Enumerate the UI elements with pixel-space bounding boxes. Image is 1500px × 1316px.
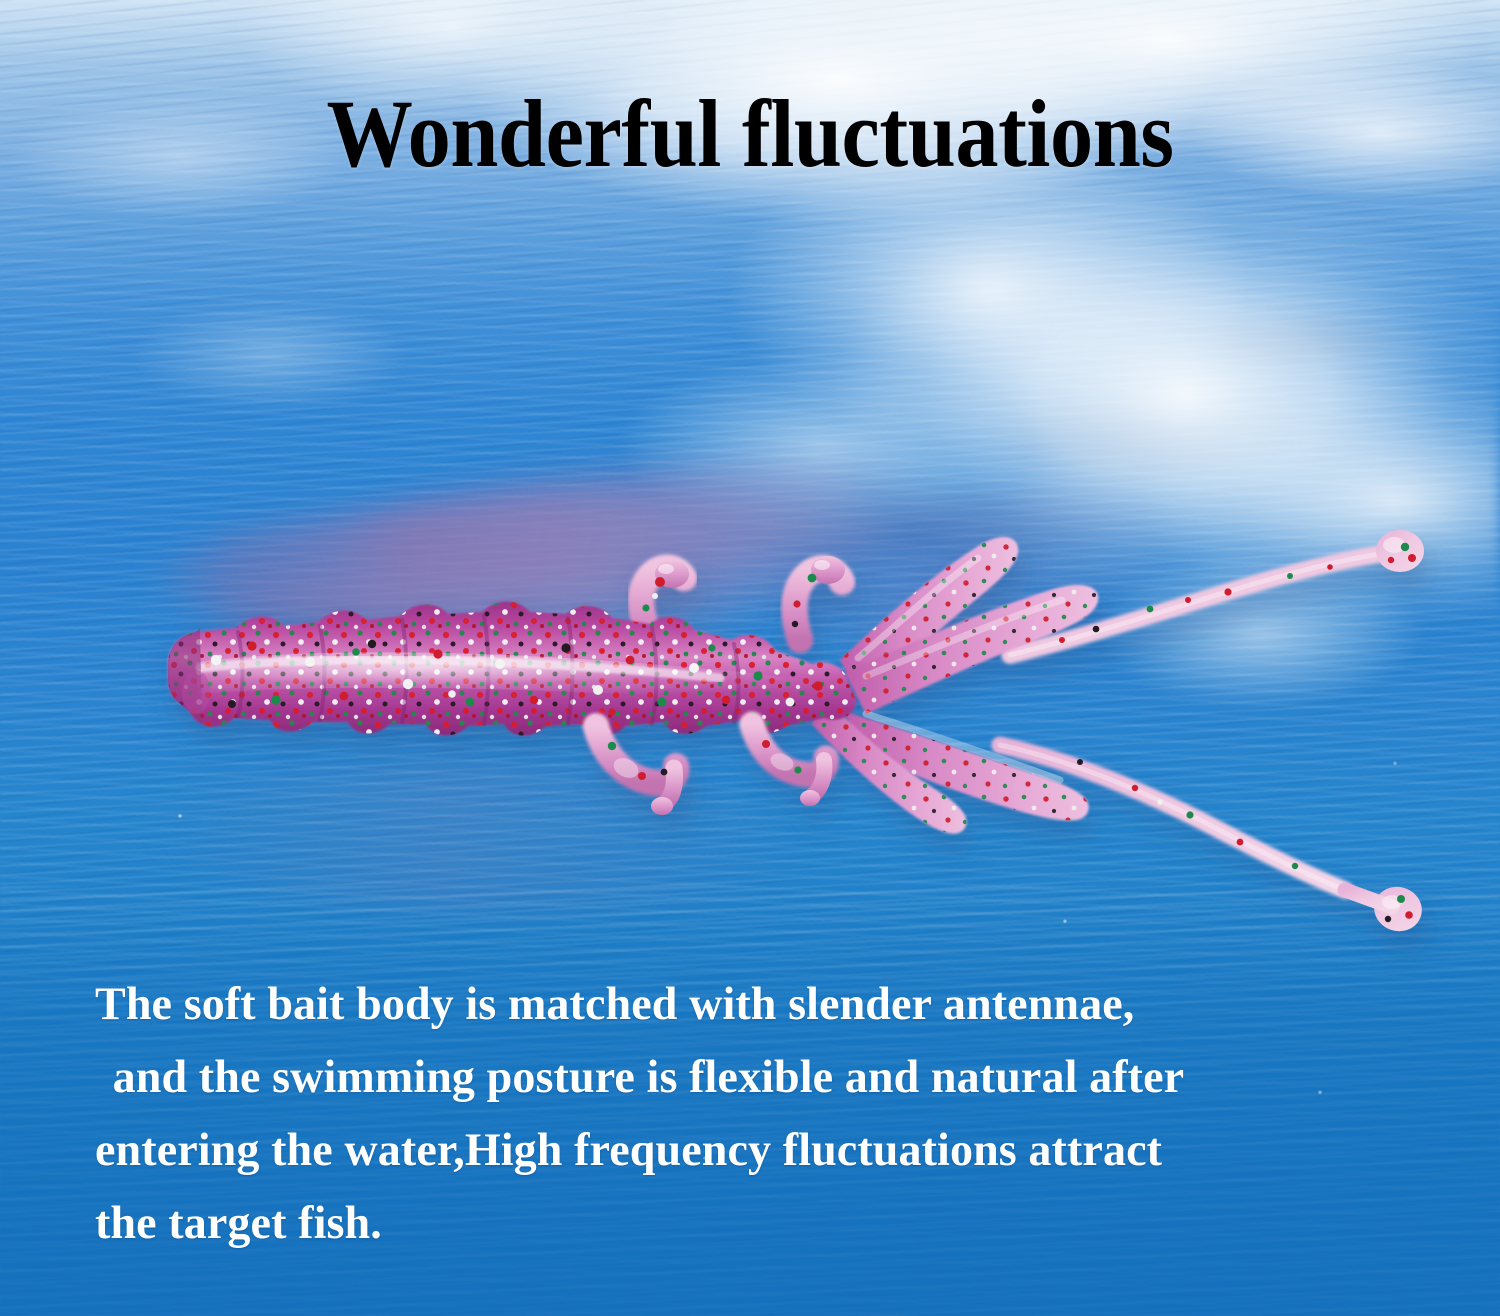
lure-antenna-lower (1000, 745, 1428, 937)
description-line: and the swimming posture is flexible and… (95, 1041, 1428, 1114)
lure-lower-legs (596, 724, 826, 815)
description-text: The soft bait body is matched with slend… (95, 968, 1455, 1260)
description-line: the target fish. (95, 1187, 1428, 1260)
description-line: entering the water,High frequency fluctu… (95, 1114, 1428, 1187)
lure-body (150, 600, 880, 760)
page-title: Wonderful fluctuations (75, 86, 1425, 182)
description-line: The soft bait body is matched with slend… (95, 968, 1428, 1041)
product-poster: Wonderful fluctuations The soft bait bod… (0, 0, 1500, 1316)
